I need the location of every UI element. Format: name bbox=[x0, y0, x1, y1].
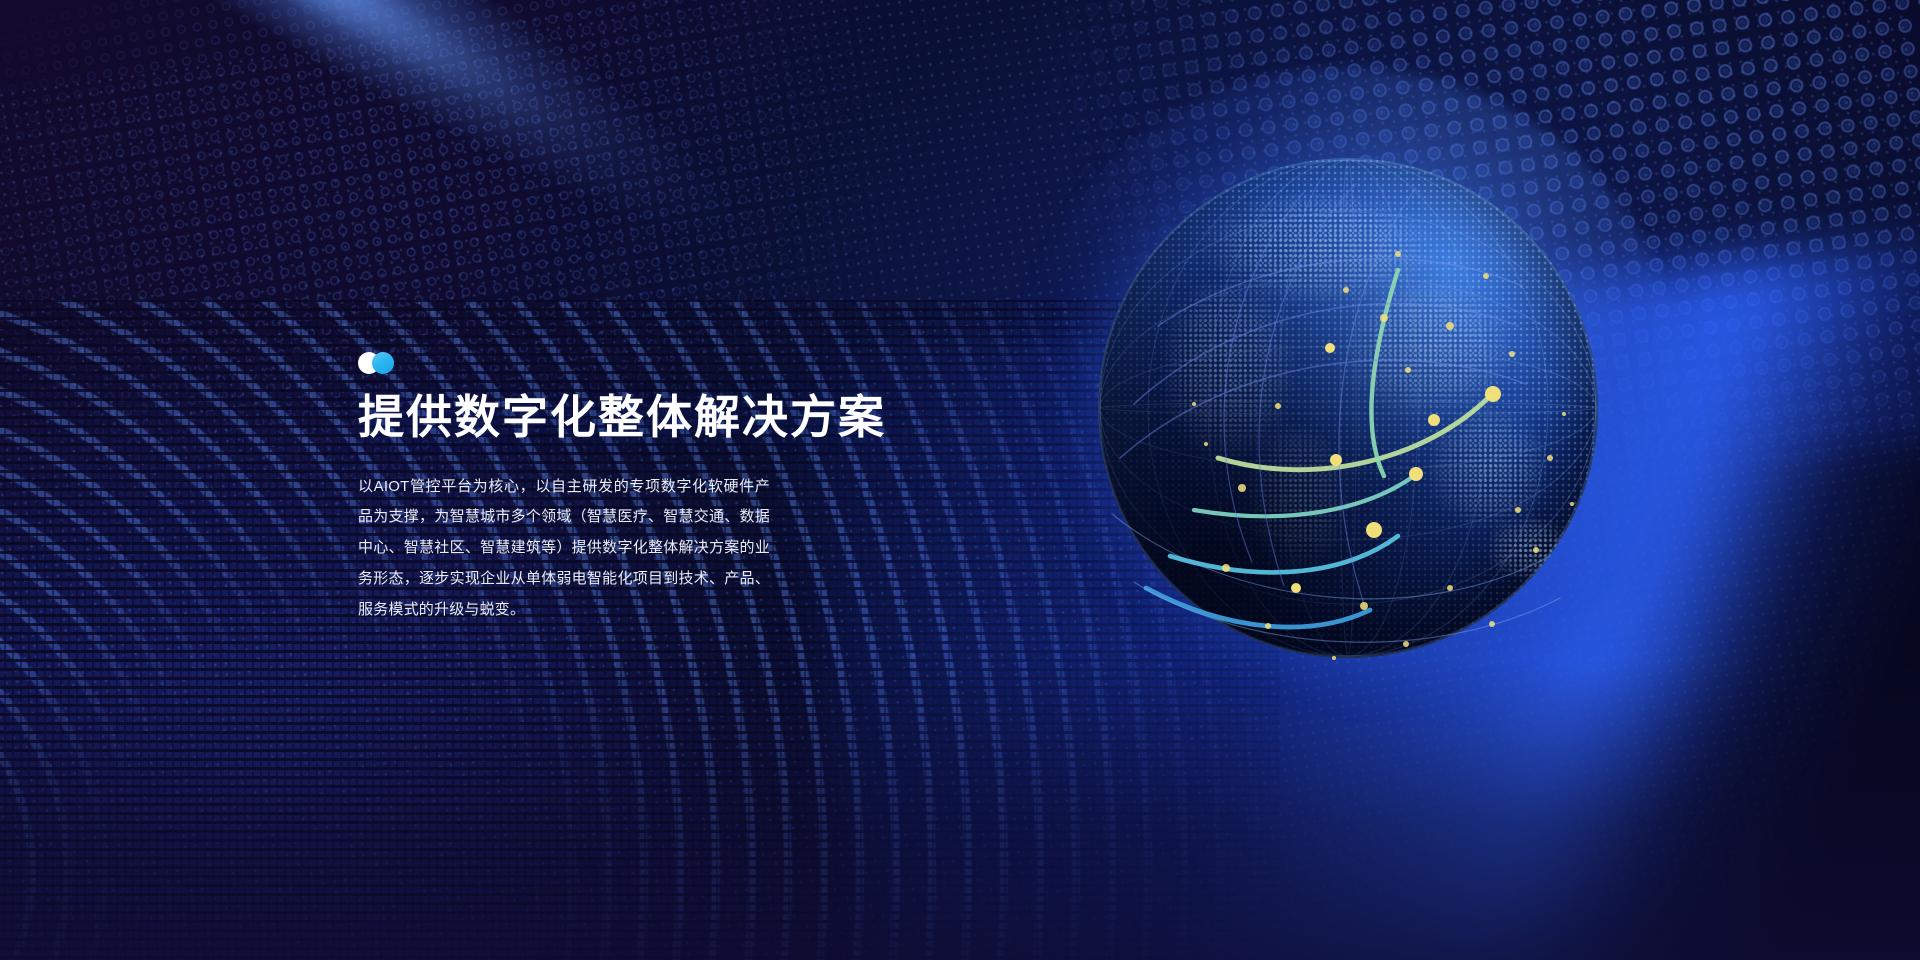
network-node bbox=[1325, 343, 1335, 353]
network-node bbox=[1409, 467, 1423, 481]
network-node bbox=[1204, 442, 1208, 446]
orbit-arc-thin-5 bbox=[1259, 184, 1356, 586]
network-node bbox=[1570, 502, 1574, 506]
page-title: 提供数字化整体解决方案 bbox=[358, 392, 788, 444]
orbit-arc-thin-3 bbox=[1158, 259, 1522, 326]
network-node bbox=[1562, 412, 1566, 416]
orbit-arc-thin-2 bbox=[1120, 360, 1526, 458]
orbit-arc-blue-bottom bbox=[1146, 588, 1370, 627]
network-node bbox=[1343, 287, 1349, 293]
network-node bbox=[1547, 455, 1553, 461]
network-node bbox=[1533, 547, 1539, 553]
network-node bbox=[1483, 273, 1489, 279]
orbit-arc-teal-mid bbox=[1194, 476, 1414, 516]
hero-text-block: 提供数字化整体解决方案 以AIOT管控平台为核心，以自主研发的专项数字化软硬件产… bbox=[358, 352, 788, 625]
network-node bbox=[1275, 403, 1281, 409]
orbit-arc-thin-1 bbox=[1134, 303, 1518, 404]
network-node bbox=[1515, 507, 1521, 513]
network-node bbox=[1405, 367, 1411, 373]
network-node bbox=[1330, 454, 1342, 466]
globe-orbit-network bbox=[1098, 158, 1598, 658]
network-node bbox=[1403, 641, 1409, 647]
two-dot-mark bbox=[358, 352, 416, 374]
network-node bbox=[1360, 602, 1368, 610]
network-node bbox=[1222, 564, 1230, 572]
network-node bbox=[1291, 583, 1301, 593]
network-node bbox=[1489, 621, 1495, 627]
network-node bbox=[1192, 402, 1196, 406]
network-node bbox=[1366, 522, 1382, 538]
orbit-arc-green-steep bbox=[1372, 270, 1398, 476]
hero-banner: 提供数字化整体解决方案 以AIOT管控平台为核心，以自主研发的专项数字化软硬件产… bbox=[0, 0, 1920, 960]
network-node bbox=[1447, 585, 1453, 591]
globe-container bbox=[1098, 158, 1598, 658]
hero-description: 以AIOT管控平台为核心，以自主研发的专项数字化软硬件产品为支撑，为智慧城市多个… bbox=[358, 472, 770, 626]
network-node bbox=[1395, 251, 1401, 257]
network-node bbox=[1332, 656, 1336, 660]
network-node bbox=[1509, 351, 1515, 357]
network-node bbox=[1485, 386, 1501, 402]
network-node bbox=[1428, 414, 1440, 426]
blue-circle-icon bbox=[372, 352, 394, 374]
bottom-vignette bbox=[0, 660, 1920, 960]
network-node bbox=[1380, 314, 1388, 322]
network-node bbox=[1238, 484, 1246, 492]
network-node bbox=[1265, 623, 1271, 629]
network-node bbox=[1446, 322, 1454, 330]
